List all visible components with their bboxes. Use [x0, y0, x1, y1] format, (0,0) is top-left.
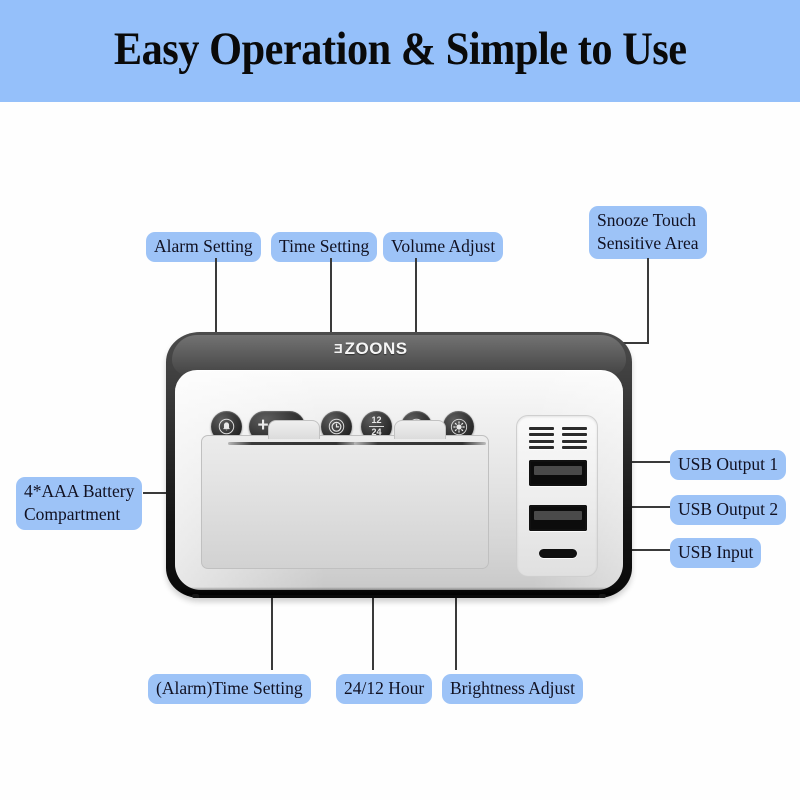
clock-icon	[328, 418, 345, 435]
brand-name: ZOONS	[345, 340, 408, 357]
bell-icon	[218, 418, 235, 435]
grille-column-right	[562, 427, 587, 449]
callout-label-battery-compartment[interactable]: 4*AAA Battery Compartment	[16, 477, 142, 530]
plus-icon: +	[257, 416, 268, 435]
brand-mark-icon: E	[334, 342, 343, 355]
grille-bar	[562, 427, 587, 430]
battery-latch-notch-right[interactable]	[394, 420, 446, 439]
callout-label-snooze-area[interactable]: Snooze Touch Sensitive Area	[589, 206, 707, 259]
usb-input-port[interactable]	[539, 549, 577, 558]
leader-line-snooze-vertical	[647, 258, 649, 343]
battery-latch-slot-left	[228, 442, 360, 445]
callout-label-usb-output-2[interactable]: USB Output 2	[670, 495, 786, 525]
grille-bar	[562, 440, 587, 443]
grille-bar	[562, 433, 587, 436]
grille-column-left	[529, 427, 554, 449]
device-foot-right	[599, 594, 606, 598]
brand-logo: E ZOONS	[334, 340, 408, 357]
alarm-clock-device: E ZOONS + −	[166, 332, 632, 598]
callout-label-brightness-adjust[interactable]: Brightness Adjust	[442, 674, 583, 704]
grille-bar	[529, 440, 554, 443]
grille-bar	[529, 433, 554, 436]
callout-label-alarm-setting[interactable]: Alarm Setting	[146, 232, 261, 262]
callout-label-hour-format[interactable]: 24/12 Hour	[336, 674, 432, 704]
device-bottom-lip	[180, 587, 618, 595]
usb-output-1-port[interactable]	[529, 460, 587, 486]
callout-label-usb-output-1[interactable]: USB Output 1	[670, 450, 786, 480]
battery-compartment-panel[interactable]	[201, 435, 489, 569]
device-front-face: + − 12 24	[175, 370, 623, 590]
product-diagram-page: Easy Operation & Simple to Use Alarm Set…	[0, 0, 800, 800]
callout-label-time-setting[interactable]: Time Setting	[271, 232, 377, 262]
port-panel	[516, 415, 598, 577]
device-foot-left	[192, 594, 199, 598]
grille-bar	[529, 427, 554, 430]
grille-bar	[529, 446, 554, 449]
callout-label-alarm-time-setting[interactable]: (Alarm)Time Setting	[148, 674, 311, 704]
hour-format-top: 12	[369, 416, 384, 426]
battery-latch-notch-left[interactable]	[268, 420, 320, 439]
header-banner: Easy Operation & Simple to Use	[0, 0, 800, 102]
grille-bar	[562, 446, 587, 449]
speaker-grille-icon	[529, 427, 587, 449]
callout-label-volume-adjust[interactable]: Volume Adjust	[383, 232, 503, 262]
battery-latch-slot-right	[354, 442, 486, 445]
page-title: Easy Operation & Simple to Use	[114, 26, 687, 77]
callout-label-usb-input[interactable]: USB Input	[670, 538, 761, 568]
usb-output-2-port[interactable]	[529, 505, 587, 531]
sun-icon	[450, 418, 468, 436]
